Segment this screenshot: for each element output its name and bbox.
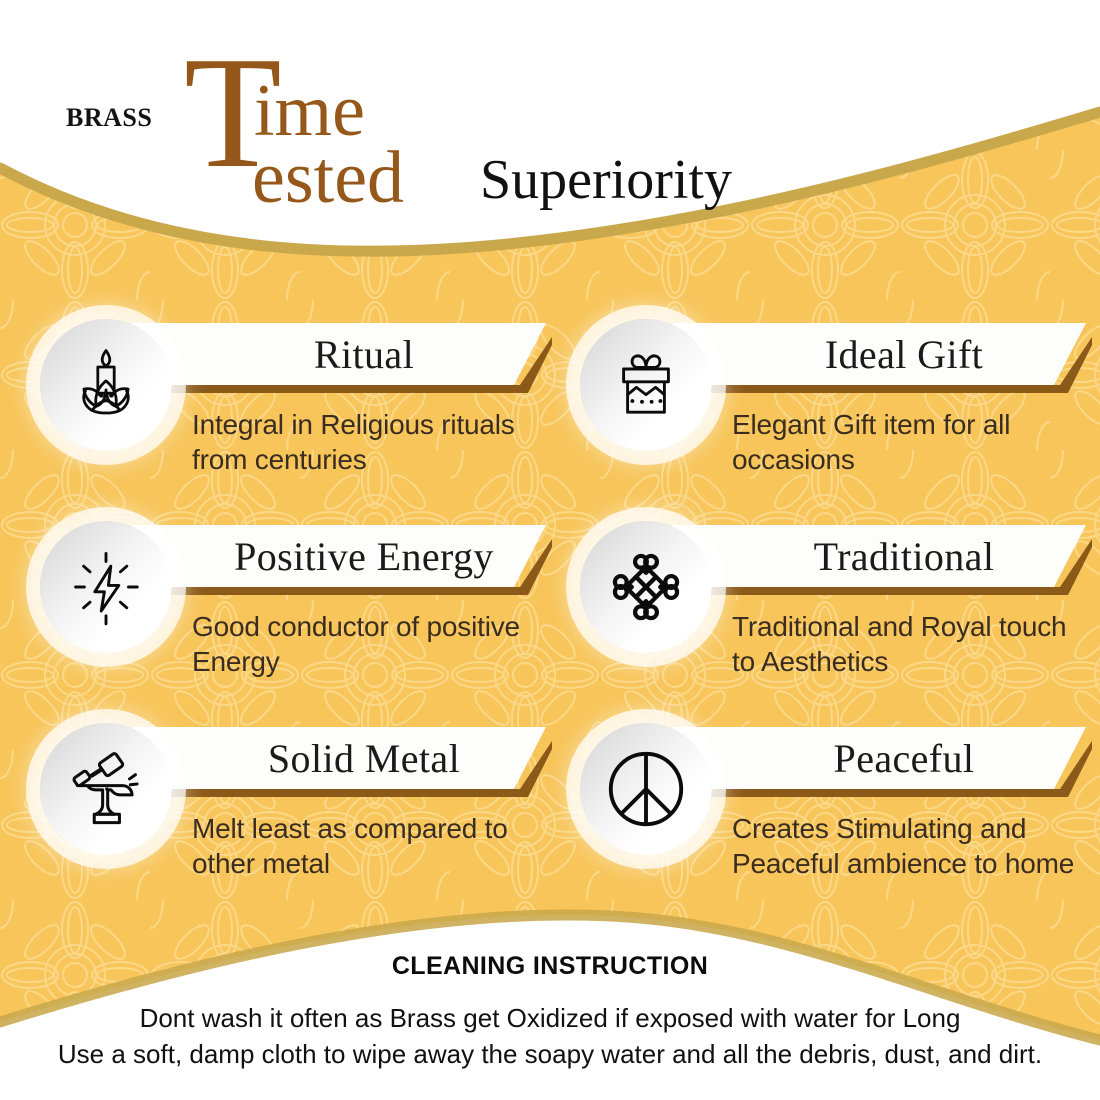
feature-description: Elegant Gift item for all occasions: [732, 407, 1092, 477]
cleaning-instruction-body: Dont wash it often as Brass get Oxidized…: [0, 1001, 1100, 1073]
feature-description: Integral in Religious rituals from centu…: [192, 407, 552, 477]
feature-title: Ritual: [132, 323, 536, 385]
feature-title: Peaceful: [672, 727, 1076, 789]
feature-description: Traditional and Royal touch to Aesthetic…: [732, 609, 1092, 679]
feature-grid: Ritual Integral in Religious rituals fro…: [0, 0, 1100, 1100]
feature-card-positive-energy: Positive Energy Good conductor of positi…: [32, 517, 552, 717]
feature-card-solid-metal: Solid Metal Melt least as compared to ot…: [32, 719, 552, 919]
infographic-page: Brass T ime ested Superiority: [0, 0, 1100, 1100]
feature-title: Positive Energy: [132, 525, 536, 587]
cleaning-instruction-heading: CLEANING INSTRUCTION: [0, 952, 1100, 981]
feature-card-ritual: Ritual Integral in Religious rituals fro…: [32, 315, 552, 515]
cleaning-instruction-section: CLEANING INSTRUCTION Dont wash it often …: [0, 952, 1100, 1073]
feature-title: Solid Metal: [132, 727, 536, 789]
cleaning-instruction-line-1: Dont wash it often as Brass get Oxidized…: [0, 1001, 1100, 1037]
cleaning-instruction-line-2: Use a soft, damp cloth to wipe away the …: [0, 1037, 1100, 1073]
feature-card-ideal-gift: Ideal Gift Elegant Gift item for all occ…: [572, 315, 1092, 515]
feature-description: Melt least as compared to other metal: [192, 811, 552, 881]
feature-description: Creates Stimulating and Peaceful ambienc…: [732, 811, 1092, 881]
feature-description: Good conductor of positive Energy: [192, 609, 552, 679]
feature-card-traditional: Traditional Traditional and Royal touch …: [572, 517, 1092, 717]
feature-title: Ideal Gift: [672, 323, 1076, 385]
feature-card-peaceful: Peaceful Creates Stimulating and Peacefu…: [572, 719, 1092, 919]
feature-title: Traditional: [672, 525, 1076, 587]
